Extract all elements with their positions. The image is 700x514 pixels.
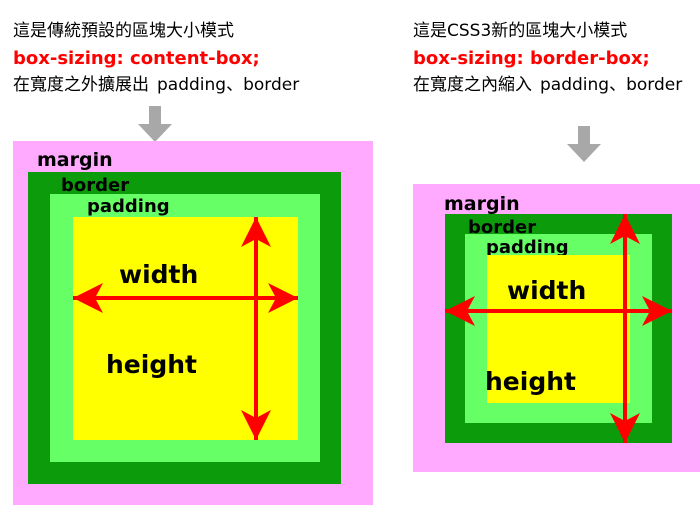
padding-label: padding <box>87 198 170 216</box>
caption-line-1: 這是傳統預設的區塊大小模式 <box>13 18 299 45</box>
width-label: width <box>507 278 586 303</box>
grey-down-arrow-icon <box>138 106 172 142</box>
height-label: height <box>485 369 576 394</box>
border-box-panel: 這是CSS3新的區塊大小模式 box-sizing: border-box; 在… <box>400 0 700 514</box>
content-layer <box>73 217 298 440</box>
grey-down-arrow-icon <box>567 126 601 162</box>
caption-code-line: box-sizing: border-box; <box>413 45 682 72</box>
arrow-shaft <box>149 106 161 126</box>
arrow-head <box>567 144 601 162</box>
margin-label: margin <box>37 151 113 170</box>
caption-code-line: box-sizing: content-box; <box>13 45 299 72</box>
border-box-diagram: margin border padding width height <box>413 184 700 472</box>
caption-line-3: 在寬度之內縮入padding、border <box>413 72 682 99</box>
content-box-diagram: margin border padding width height <box>13 141 373 505</box>
caption-line-3-lead: 在寬度之內縮入 <box>413 75 532 95</box>
content-box-caption: 這是傳統預設的區塊大小模式 box-sizing: content-box; 在… <box>13 18 299 99</box>
arrow-shaft <box>578 126 590 146</box>
caption-line-3: 在寬度之外擴展出padding、border <box>13 72 299 99</box>
margin-label: margin <box>444 195 520 214</box>
arrow-head <box>138 124 172 142</box>
content-box-panel: 這是傳統預設的區塊大小模式 box-sizing: content-box; 在… <box>0 0 400 514</box>
width-label: width <box>119 262 198 287</box>
height-label: height <box>106 352 197 377</box>
caption-line-3-lead: 在寬度之外擴展出 <box>13 75 149 95</box>
caption-line-1: 這是CSS3新的區塊大小模式 <box>413 18 682 45</box>
caption-line-3-tail: padding、border <box>540 75 682 95</box>
border-label: border <box>61 177 129 195</box>
caption-line-3-tail: padding、border <box>157 75 299 95</box>
border-box-caption: 這是CSS3新的區塊大小模式 box-sizing: border-box; 在… <box>413 18 682 99</box>
